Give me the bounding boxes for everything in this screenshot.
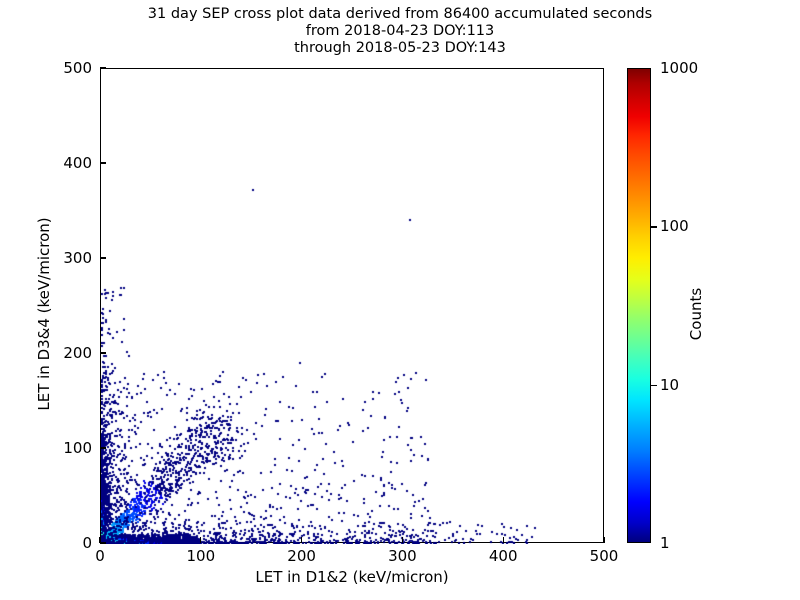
x-tick-mark: [503, 537, 504, 543]
colorbar-gradient: [627, 68, 651, 543]
y-tick-label: 0: [4, 534, 92, 552]
colorbar: 1000100101: [627, 68, 651, 543]
x-tick-mark: [301, 537, 302, 543]
y-tick-label: 400: [4, 154, 92, 172]
x-tick-label: 100: [186, 547, 215, 565]
x-tick-label: 500: [590, 547, 619, 565]
x-tick-mark: [200, 537, 201, 543]
y-tick-mark: [100, 447, 106, 448]
colorbar-tick-label: 100: [660, 217, 689, 235]
x-tick-label: 0: [95, 547, 105, 565]
colorbar-tick-label: 1: [660, 534, 670, 552]
colorbar-tick-mark: [651, 385, 657, 386]
x-tick-label: 300: [388, 547, 417, 565]
y-axis-label: LET in D3&4 (keV/micron): [35, 174, 53, 454]
scatter-plot-canvas: [101, 69, 605, 544]
y-tick-mark: [100, 542, 106, 543]
plot-area: [100, 68, 604, 543]
y-tick-mark: [100, 352, 106, 353]
title-line-2: from 2018-04-23 DOY:113: [0, 23, 800, 40]
figure-canvas: 31 day SEP cross plot data derived from …: [0, 0, 800, 600]
y-tick-label: 500: [4, 59, 92, 77]
colorbar-label: Counts: [687, 204, 705, 424]
y-tick-mark: [100, 257, 106, 258]
x-tick-mark: [603, 537, 604, 543]
y-tick-mark: [100, 162, 106, 163]
title-line-1: 31 day SEP cross plot data derived from …: [0, 6, 800, 23]
chart-title: 31 day SEP cross plot data derived from …: [0, 6, 800, 57]
x-tick-mark: [402, 537, 403, 543]
x-axis-label: LET in D1&2 (keV/micron): [100, 568, 604, 586]
x-tick-label: 400: [489, 547, 518, 565]
x-tick-label: 200: [287, 547, 316, 565]
colorbar-tick-label: 1000: [660, 59, 698, 77]
colorbar-tick-label: 10: [660, 376, 679, 394]
title-line-3: through 2018-05-23 DOY:143: [0, 40, 800, 57]
y-tick-mark: [100, 67, 106, 68]
colorbar-tick-mark: [651, 226, 657, 227]
